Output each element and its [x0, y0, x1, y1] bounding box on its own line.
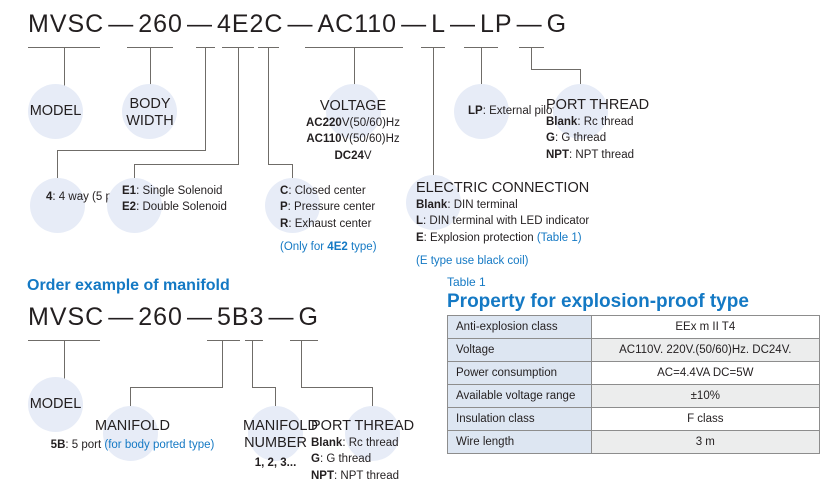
- callout-manifold-5b: MANIFOLD 5B: 5 port (for body ported typ…: [50, 418, 215, 453]
- top-code-separator: —: [513, 10, 547, 38]
- port-thread-text: : G thread: [555, 132, 606, 144]
- callout-solenoid-lines: E1: Single SolenoidE2: Double Solenoid: [122, 183, 227, 216]
- callout-manifold-5b-desc: 5B: 5 port (for body ported type): [50, 437, 215, 453]
- leader-elbow-center-h: [268, 164, 293, 165]
- port-thread-line: NPT: NPT thread: [546, 147, 649, 163]
- electric-line: E: Explosion protection (Table 1): [416, 230, 589, 246]
- callout-electric-note: (E type use black coil): [416, 253, 589, 269]
- electric-text: : Explosion protection: [424, 232, 537, 244]
- manifold-elbow-num-h: [252, 387, 276, 388]
- table-row: Power consumptionAC=4.4VA DC=5W: [448, 362, 820, 385]
- manifold-code-separator: —: [183, 303, 217, 331]
- manifold-drop-num-v1: [252, 340, 253, 387]
- electric-line: L: DIN terminal with LED indicator: [416, 213, 589, 229]
- manifold-underline-number: [245, 340, 263, 341]
- port-thread-text: : NPT thread: [569, 149, 634, 161]
- manifold-port-thread-line: G: G thread: [311, 451, 414, 467]
- leader-drop-electric: [433, 47, 434, 183]
- top-code-segment: LP: [480, 10, 513, 38]
- table-cell-value: EEx m II T4: [591, 316, 819, 339]
- manifold-port-thread-code: G: [311, 453, 320, 465]
- callout-manifold-5b-note: (for body ported type): [104, 439, 214, 451]
- center-text: : Exhaust center: [288, 218, 371, 230]
- solenoid-line: E2: Double Solenoid: [122, 199, 227, 215]
- manifold-underline-manifold: [207, 340, 240, 341]
- solenoid-code: E2: [122, 201, 136, 213]
- table-cell-key: Wire length: [448, 431, 592, 454]
- callout-manifold-model: MODEL: [28, 396, 83, 413]
- table-row: Insulation classF class: [448, 408, 820, 431]
- callout-manifold-number: MANIFOLD NUMBER 1, 2, 3...: [243, 418, 308, 472]
- port-thread-code: NPT: [546, 149, 569, 161]
- voltage-line: AC220V(50/60)Hz: [277, 115, 429, 131]
- manifold-code-separator: —: [264, 303, 298, 331]
- table-cell-value: ±10%: [591, 385, 819, 408]
- manifold-section-heading: Order example of manifold: [27, 277, 230, 295]
- solenoid-code: E1: [122, 185, 136, 197]
- manifold-drop-port-v1: [301, 340, 302, 387]
- table-row: Available voltage range±10%: [448, 385, 820, 408]
- top-code-segment: G: [547, 10, 567, 38]
- voltage-text: V(50/60)Hz: [342, 133, 400, 145]
- top-code-segment: MVSC: [28, 10, 104, 38]
- table-row: Wire length3 m: [448, 431, 820, 454]
- electric-code: L: [416, 215, 423, 227]
- center-code: P: [280, 201, 288, 213]
- callout-external-pilot: LP: External pilot: [468, 105, 556, 117]
- manifold-port-thread-text: : NPT thread: [334, 470, 399, 482]
- callout-voltage-title: VOLTAGE: [277, 98, 429, 115]
- manifold-port-thread-code: NPT: [311, 470, 334, 482]
- port-thread-line: G: G thread: [546, 130, 649, 146]
- callout-manifold-port-thread: PORT THREAD Blank: Rc threadG: G threadN…: [311, 418, 414, 484]
- callout-manifold-number-values: 1, 2, 3...: [243, 455, 308, 471]
- top-order-code: MVSC—260—4E2C—AC110—L—LP—G: [28, 10, 567, 39]
- callout-manifold-port-lines: Blank: Rc threadG: G threadNPT: NPT thre…: [311, 435, 414, 484]
- table-cell-key: Insulation class: [448, 408, 592, 431]
- callout-manifold-5b-rest: : 5 port: [65, 439, 104, 451]
- callout-body-width-line1: BODY: [105, 96, 195, 113]
- table-cell-key: Anti-explosion class: [448, 316, 592, 339]
- manifold-elbow-port-h: [301, 387, 373, 388]
- leader-elbow-solenoid-h: [134, 164, 239, 165]
- callout-manifold-5b-title: MANIFOLD: [50, 418, 215, 435]
- property-table: Anti-explosion classEEx m II T4VoltageAC…: [447, 315, 820, 454]
- voltage-text: V(50/60)Hz: [342, 117, 400, 129]
- table-cell-key: Voltage: [448, 339, 592, 362]
- callout-manifold-number-line1: MANIFOLD: [243, 418, 308, 435]
- callout-center-note-post: type): [348, 241, 377, 253]
- manifold-port-thread-line: NPT: NPT thread: [311, 468, 414, 484]
- callout-voltage: VOLTAGE AC220V(50/60)HzAC110V(50/60)HzDC…: [277, 98, 429, 164]
- manifold-code-segment: 260: [138, 303, 183, 331]
- top-code-separator: —: [446, 10, 480, 38]
- callout-electric-lines: Blank: DIN terminalL: DIN terminal with …: [416, 197, 589, 246]
- callout-port-thread-lines: Blank: Rc threadG: G threadNPT: NPT thre…: [546, 114, 649, 163]
- center-line: R: Exhaust center: [280, 216, 377, 232]
- table-label: Table 1: [447, 275, 486, 289]
- electric-link[interactable]: (Table 1): [537, 232, 582, 244]
- diagram-canvas: MVSC—260—4E2C—AC110—L—LP—G MODEL BODY WI…: [0, 0, 820, 486]
- manifold-drop-5b-v1: [222, 340, 223, 387]
- center-line: C: Closed center: [280, 183, 377, 199]
- callout-manifold-port-title: PORT THREAD: [311, 418, 414, 435]
- top-code-separator: —: [284, 10, 318, 38]
- callout-voltage-lines: AC220V(50/60)HzAC110V(50/60)HzDC24V: [277, 115, 429, 164]
- table-cell-value: 3 m: [591, 431, 819, 454]
- center-text: : Pressure center: [288, 201, 376, 213]
- manifold-code-segment: 5B3: [217, 303, 264, 331]
- callout-model-label: MODEL: [28, 103, 83, 120]
- bubble-way: [30, 178, 85, 233]
- solenoid-line: E1: Single Solenoid: [122, 183, 227, 199]
- table-row: VoltageAC110V. 220V.(50/60)Hz. DC24V.: [448, 339, 820, 362]
- manifold-port-thread-text: : G thread: [320, 453, 371, 465]
- manifold-code-segment: G: [298, 303, 318, 331]
- manifold-port-thread-code: Blank: [311, 437, 342, 449]
- leader-drop-solenoid-v1: [238, 47, 239, 164]
- callout-external-pilot-code: LP: [468, 105, 483, 117]
- callout-body-width-line2: WIDTH: [105, 113, 195, 130]
- table-cell-value: AC=4.4VA DC=5W: [591, 362, 819, 385]
- voltage-line: DC24V: [277, 148, 429, 164]
- table-cell-value: F class: [591, 408, 819, 431]
- callout-electric-title: ELECTRIC CONNECTION: [416, 180, 589, 197]
- solenoid-text: : Single Solenoid: [136, 185, 222, 197]
- electric-line: Blank: DIN terminal: [416, 197, 589, 213]
- table-cell-key: Available voltage range: [448, 385, 592, 408]
- callout-center-lines: C: Closed centerP: Pressure centerR: Exh…: [280, 183, 377, 232]
- electric-text: : DIN terminal: [447, 199, 517, 211]
- manifold-order-code: MVSC—260—5B3—G: [28, 303, 319, 332]
- callout-center-note: (Only for 4E2 type): [280, 239, 377, 255]
- port-thread-code: Blank: [546, 116, 577, 128]
- table-cell-value: AC110V. 220V.(50/60)Hz. DC24V.: [591, 339, 819, 362]
- electric-text: : DIN terminal with LED indicator: [423, 215, 589, 227]
- voltage-code: AC220: [306, 117, 342, 129]
- callout-manifold-5b-code: 5B: [51, 439, 66, 451]
- leader-drop-way-v1: [205, 47, 206, 150]
- callout-port-thread: PORT THREAD Blank: Rc threadG: G threadN…: [546, 97, 649, 163]
- leader-elbow-portthread-h: [531, 69, 581, 70]
- table-title: Property for explosion-proof type: [447, 291, 749, 313]
- callout-center: C: Closed centerP: Pressure centerR: Exh…: [280, 183, 377, 255]
- manifold-drop-model: [64, 340, 65, 384]
- top-code-separator: —: [183, 10, 217, 38]
- center-text: : Closed center: [288, 185, 365, 197]
- manifold-underline-port: [290, 340, 318, 341]
- leader-drop-portthread-v1: [531, 47, 532, 69]
- port-thread-text: : Rc thread: [577, 116, 633, 128]
- top-code-separator: —: [104, 10, 138, 38]
- callout-electric-connection: ELECTRIC CONNECTION Blank: DIN terminalL…: [416, 180, 589, 269]
- table-cell-key: Power consumption: [448, 362, 592, 385]
- top-code-segment: 260: [138, 10, 183, 38]
- manifold-elbow-5b-h: [130, 387, 223, 388]
- manifold-port-thread-line: Blank: Rc thread: [311, 435, 414, 451]
- top-code-segment: 4E2C: [217, 10, 284, 38]
- callout-body-width: BODY WIDTH: [105, 96, 195, 130]
- callout-port-thread-title: PORT THREAD: [546, 97, 649, 114]
- top-code-segment: L: [431, 10, 446, 38]
- manifold-port-thread-text: : Rc thread: [342, 437, 398, 449]
- callout-center-note-code: 4E2: [327, 241, 347, 253]
- electric-code: Blank: [416, 199, 447, 211]
- center-line: P: Pressure center: [280, 199, 377, 215]
- voltage-code: DC24: [334, 150, 363, 162]
- electric-code: E: [416, 232, 424, 244]
- callout-solenoid: E1: Single SolenoidE2: Double Solenoid: [122, 183, 227, 216]
- callout-center-note-pre: (Only for: [280, 241, 327, 253]
- voltage-text: V: [364, 150, 372, 162]
- callout-manifold-model-label: MODEL: [28, 396, 83, 413]
- port-thread-line: Blank: Rc thread: [546, 114, 649, 130]
- port-thread-code: G: [546, 132, 555, 144]
- callout-external-pilot-text: : External pilot: [483, 105, 556, 117]
- top-code-segment: AC110: [318, 10, 398, 38]
- top-code-separator: —: [397, 10, 431, 38]
- manifold-code-separator: —: [104, 303, 138, 331]
- callout-model: MODEL: [28, 103, 83, 120]
- manifold-code-segment: MVSC: [28, 303, 104, 331]
- callout-manifold-number-line2: NUMBER: [243, 435, 308, 452]
- table-row: Anti-explosion classEEx m II T4: [448, 316, 820, 339]
- voltage-line: AC110V(50/60)Hz: [277, 131, 429, 147]
- voltage-code: AC110: [306, 133, 341, 145]
- solenoid-text: : Double Solenoid: [136, 201, 227, 213]
- leader-drop-center-v1: [268, 47, 269, 164]
- leader-elbow-way-h: [57, 150, 206, 151]
